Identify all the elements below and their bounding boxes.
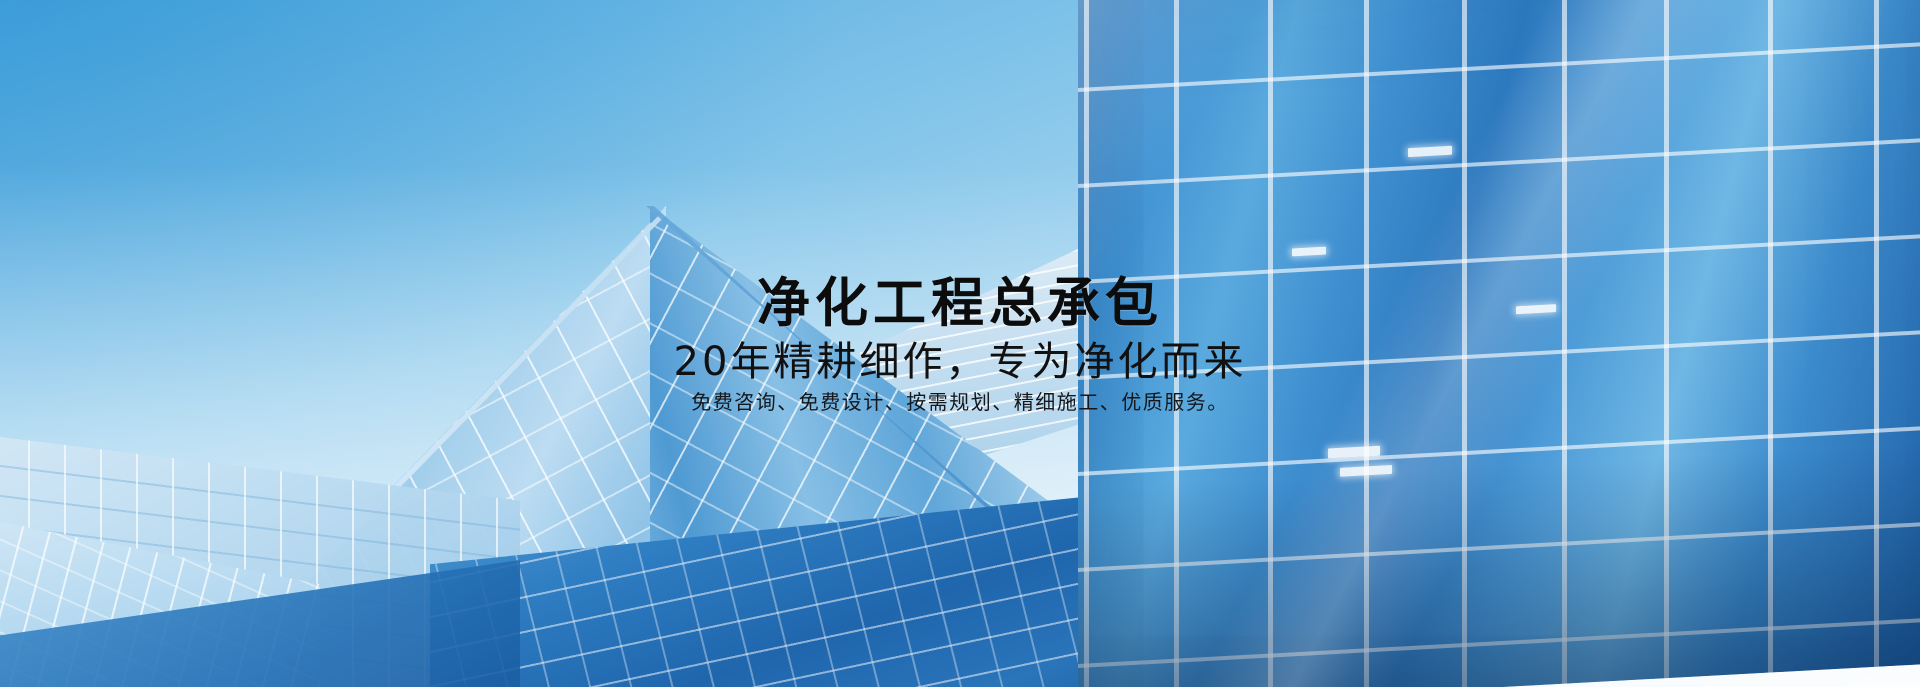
banner-headline: 净化工程总承包 [0,276,1920,332]
banner-copy: 净化工程总承包 20年精耕细作，专为净化而来 免费咨询、免费设计、按需规划、精细… [0,276,1920,414]
banner-subheadline: 20年精耕细作，专为净化而来 [0,340,1920,384]
banner-tagline: 免费咨询、免费设计、按需规划、精细施工、优质服务。 [0,390,1920,414]
hero-banner: 净化工程总承包 20年精耕细作，专为净化而来 免费咨询、免费设计、按需规划、精细… [0,0,1920,687]
